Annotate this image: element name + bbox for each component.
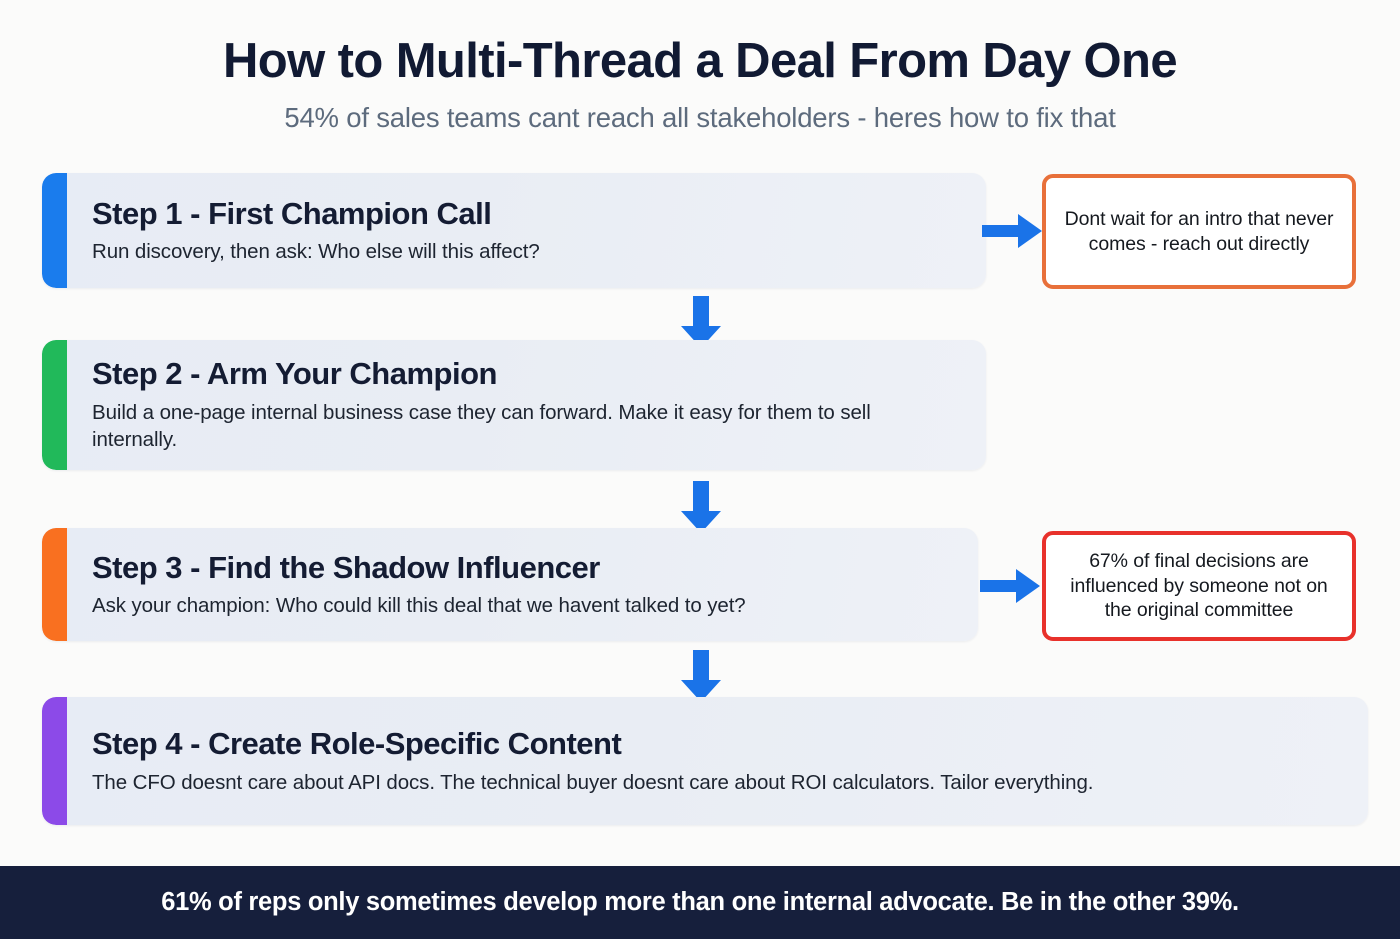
footer-banner: 61% of reps only sometimes develop more … xyxy=(0,866,1400,939)
step-title-1: Step 1 - First Champion Call xyxy=(92,197,960,232)
step-title-2: Step 2 - Arm Your Champion xyxy=(92,357,960,392)
step-card-2[interactable]: Step 2 - Arm Your Champion Build a one-p… xyxy=(42,340,986,470)
arrow-right-icon xyxy=(982,209,1044,253)
header: How to Multi-Thread a Deal From Day One … xyxy=(0,0,1400,134)
step-accent-bar-4 xyxy=(42,697,67,825)
step-content-3: Step 3 - Find the Shadow Influencer Ask … xyxy=(67,528,978,641)
step-content-1: Step 1 - First Champion Call Run discove… xyxy=(67,173,986,288)
step-title-3: Step 3 - Find the Shadow Influencer xyxy=(92,551,952,586)
page-subtitle: 54% of sales teams cant reach all stakeh… xyxy=(0,89,1400,134)
callout-box-1: Dont wait for an intro that never comes … xyxy=(1042,174,1356,289)
step-accent-bar-2 xyxy=(42,340,67,470)
footer-text: 61% of reps only sometimes develop more … xyxy=(161,888,1239,917)
arrow-down-icon xyxy=(679,481,723,535)
step-description-4: The CFO doesnt care about API docs. The … xyxy=(92,769,1342,796)
step-content-4: Step 4 - Create Role-Specific Content Th… xyxy=(67,697,1368,825)
step-accent-bar-1 xyxy=(42,173,67,288)
step-card-3[interactable]: Step 3 - Find the Shadow Influencer Ask … xyxy=(42,528,978,641)
callout-box-2: 67% of final decisions are influenced by… xyxy=(1042,531,1356,641)
callout-text-1: Dont wait for an intro that never comes … xyxy=(1060,207,1338,257)
step-card-1[interactable]: Step 1 - First Champion Call Run discove… xyxy=(42,173,986,288)
arrow-down-icon xyxy=(679,650,723,704)
arrow-right-icon xyxy=(980,564,1042,608)
step-description-1: Run discovery, then ask: Who else will t… xyxy=(92,238,960,265)
step-accent-bar-3 xyxy=(42,528,67,641)
step-description-3: Ask your champion: Who could kill this d… xyxy=(92,592,952,619)
callout-text-2: 67% of final decisions are influenced by… xyxy=(1060,549,1338,624)
step-description-2: Build a one-page internal business case … xyxy=(92,399,960,454)
step-card-4[interactable]: Step 4 - Create Role-Specific Content Th… xyxy=(42,697,1368,825)
step-title-4: Step 4 - Create Role-Specific Content xyxy=(92,727,1342,762)
step-content-2: Step 2 - Arm Your Champion Build a one-p… xyxy=(67,340,986,470)
page-title: How to Multi-Thread a Deal From Day One xyxy=(0,0,1400,89)
